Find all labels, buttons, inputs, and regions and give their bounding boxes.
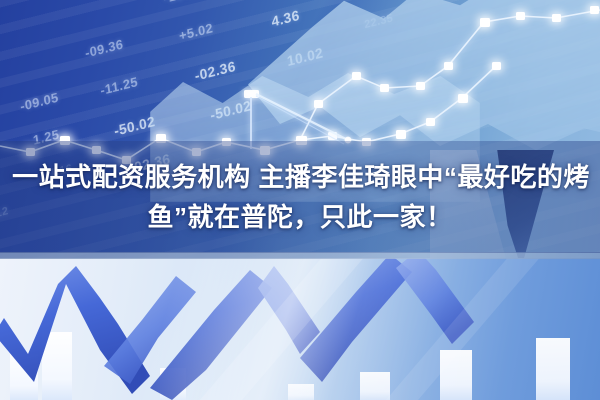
section-divider	[0, 252, 600, 259]
bottom-graphics	[0, 258, 600, 400]
page-title-line-1: 一站式配资服务机构 主播李佳琦眼中“最好吃的烤	[12, 157, 590, 197]
banner-image: -50.02 -1.25 03.12 -09.05 1.25 -1.16 -09…	[0, 0, 600, 400]
page-title-line-2: 鱼”就在普陀，只此一家！	[147, 197, 452, 237]
chart-panel-background	[0, 258, 600, 400]
title-overlay-band: 一站式配资服务机构 主播李佳琦眼中“最好吃的烤 鱼”就在普陀，只此一家！	[0, 141, 600, 253]
